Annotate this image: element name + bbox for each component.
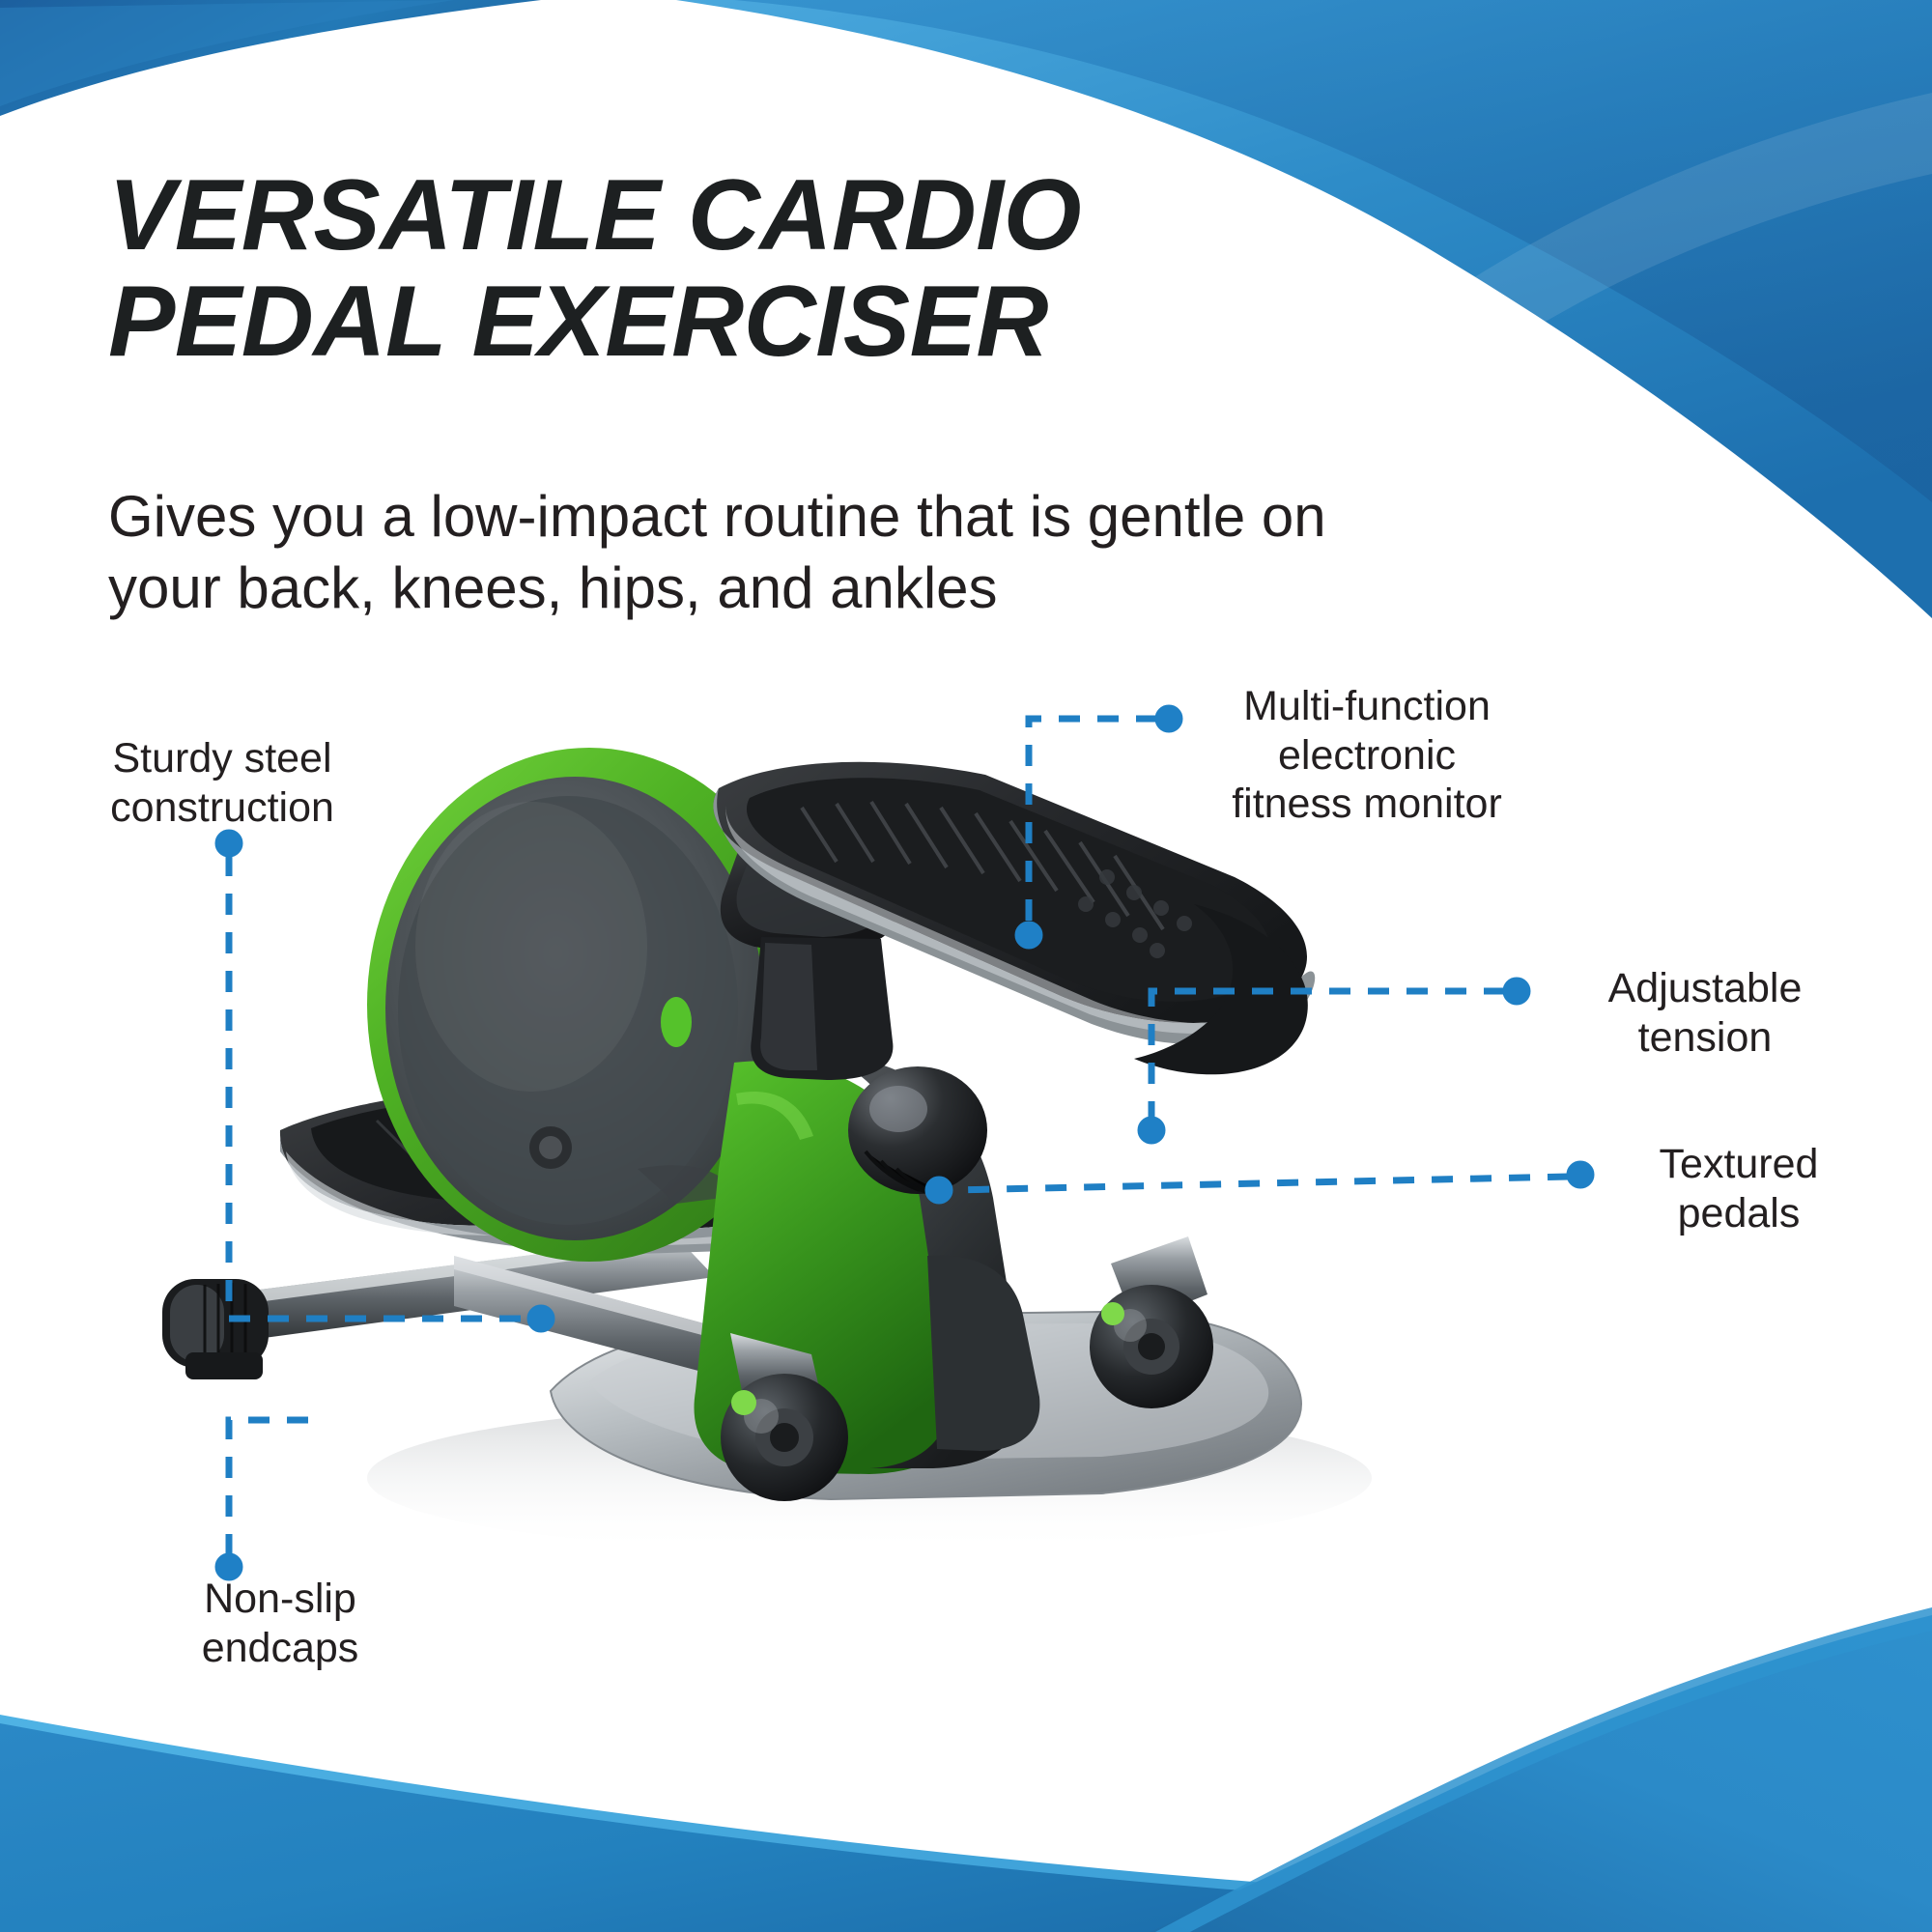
headline-accent-word: VERSATILE: [108, 159, 660, 271]
swoosh-top-left-band: [0, 0, 541, 116]
page-subtitle: Gives you a low-impact routine that is g…: [108, 481, 1654, 625]
callout-line-2: pedals: [1604, 1189, 1874, 1238]
callout-line-3: fitness monitor: [1188, 780, 1546, 829]
subtitle-line-1: Gives you a low-impact routine that is g…: [108, 481, 1654, 553]
callout-line-1: Sturdy steel: [58, 734, 386, 783]
flywheel-bolt: [529, 1126, 572, 1169]
callout-line-2: electronic: [1188, 731, 1546, 781]
product-wheel-front-right: [1090, 1236, 1213, 1408]
infographic-canvas: VERSATILE CARDIO PEDAL EXERCISER Gives y…: [0, 0, 1932, 1932]
callout-textured-pedals: Textured pedals: [1604, 1140, 1874, 1237]
swoosh-bottom-left: [0, 1721, 1932, 1932]
callout-sturdy-steel-construction: Sturdy steel construction: [58, 734, 386, 832]
connector-dot-tension-label: [1503, 978, 1530, 1005]
callout-non-slip-endcaps: Non-slip endcaps: [116, 1575, 444, 1672]
connector-dot-pedals-label: [1567, 1161, 1594, 1188]
callout-line-1: Non-slip: [116, 1575, 444, 1624]
product-endcap-left: [162, 1279, 269, 1379]
product-monitor-post: [751, 937, 893, 1080]
callout-line-2: tension: [1546, 1013, 1864, 1063]
callout-line-1: Multi-function: [1188, 682, 1546, 731]
callout-line-1: Textured: [1604, 1140, 1874, 1189]
flywheel-green-accent: [661, 997, 692, 1047]
callout-adjustable-tension: Adjustable tension: [1546, 964, 1864, 1062]
headline-rest-line1: CARDIO: [688, 159, 1081, 271]
headline-line2: PEDAL EXERCISER: [108, 269, 1480, 375]
callout-line-2: construction: [58, 783, 386, 833]
swoosh-top-left-highlight: [0, 0, 454, 106]
callout-line-2: endcaps: [116, 1624, 444, 1673]
callout-multi-function-electronic-fitness-monitor: Multi-function electronic fitness monito…: [1188, 682, 1546, 829]
page-title: VERSATILE CARDIO PEDAL EXERCISER: [108, 162, 1480, 375]
product-image-pedal-exerciser: [135, 715, 1507, 1681]
swoosh-bottom-left-edge: [0, 1715, 1932, 1930]
subtitle-line-2: your back, knees, hips, and ankles: [108, 553, 1654, 624]
callout-line-1: Adjustable: [1546, 964, 1864, 1013]
